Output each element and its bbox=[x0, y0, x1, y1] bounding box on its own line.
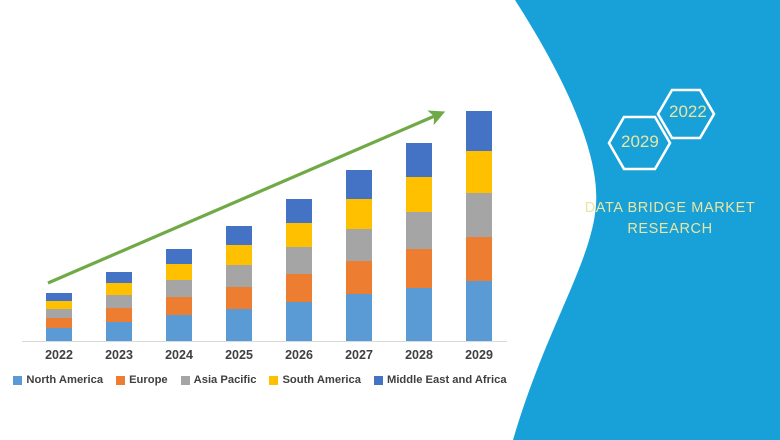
legend-label: Europe bbox=[129, 374, 168, 386]
hexagon-2022-label: 2022 bbox=[669, 102, 707, 122]
legend-swatch-icon bbox=[116, 376, 125, 385]
legend-label: Middle East and Africa bbox=[387, 374, 507, 386]
legend-item-middle-east-and-africa[interactable]: Middle East and Africa bbox=[374, 374, 507, 386]
segment-north-america bbox=[466, 281, 492, 341]
segment-europe bbox=[406, 249, 432, 287]
segment-south-america bbox=[226, 245, 252, 265]
segment-europe bbox=[286, 274, 312, 302]
x-axis-label-2029: 2029 bbox=[449, 348, 509, 362]
segment-north-america bbox=[46, 328, 72, 341]
legend-label: South America bbox=[282, 374, 361, 386]
segment-south-america bbox=[286, 223, 312, 247]
segment-asia-pacific bbox=[346, 229, 372, 261]
segment-europe bbox=[226, 287, 252, 309]
legend-item-asia-pacific[interactable]: Asia Pacific bbox=[181, 374, 257, 386]
segment-south-america bbox=[406, 177, 432, 212]
segment-middle-east-and-africa bbox=[286, 199, 312, 223]
segment-asia-pacific bbox=[286, 247, 312, 274]
legend-label: North America bbox=[26, 374, 103, 386]
stacked-bar-chart: 20222023202420252026202720282029 North A… bbox=[0, 0, 520, 440]
x-axis-label-2023: 2023 bbox=[89, 348, 149, 362]
segment-south-america bbox=[46, 301, 72, 309]
segment-south-america bbox=[166, 264, 192, 280]
legend-swatch-icon bbox=[269, 376, 278, 385]
brand-name-line-2: RESEARCH bbox=[560, 219, 780, 240]
segment-middle-east-and-africa bbox=[166, 249, 192, 265]
legend-swatch-icon bbox=[181, 376, 190, 385]
x-axis-label-2024: 2024 bbox=[149, 348, 209, 362]
x-axis-labels: 20222023202420252026202720282029 bbox=[0, 348, 520, 368]
bar-2025 bbox=[226, 226, 252, 341]
segment-south-america bbox=[346, 199, 372, 229]
chart-legend: North AmericaEuropeAsia PacificSouth Ame… bbox=[0, 374, 520, 386]
segment-middle-east-and-africa bbox=[46, 293, 72, 301]
segment-north-america bbox=[406, 288, 432, 341]
brand-name: DATA BRIDGE MARKET RESEARCH bbox=[560, 198, 780, 240]
bar-2024 bbox=[166, 249, 192, 341]
segment-middle-east-and-africa bbox=[466, 111, 492, 151]
segment-asia-pacific bbox=[106, 295, 132, 308]
legend-item-south-america[interactable]: South America bbox=[269, 374, 361, 386]
legend-swatch-icon bbox=[13, 376, 22, 385]
segment-south-america bbox=[106, 283, 132, 295]
segment-north-america bbox=[166, 315, 192, 341]
segment-north-america bbox=[286, 302, 312, 341]
bar-2022 bbox=[46, 293, 72, 341]
brand-name-line-1: DATA BRIDGE MARKET bbox=[560, 198, 780, 219]
chart-image-root: 2029 2022 DATA BRIDGE MARKET RESEARCH 20… bbox=[0, 0, 780, 440]
hexagon-2029-label: 2029 bbox=[621, 132, 659, 152]
segment-north-america bbox=[226, 309, 252, 341]
segment-south-america bbox=[466, 151, 492, 193]
x-axis-label-2026: 2026 bbox=[269, 348, 329, 362]
x-axis-label-2025: 2025 bbox=[209, 348, 269, 362]
segment-europe bbox=[46, 318, 72, 328]
segment-middle-east-and-africa bbox=[346, 170, 372, 199]
segment-middle-east-and-africa bbox=[226, 226, 252, 246]
segment-north-america bbox=[106, 322, 132, 341]
segment-europe bbox=[106, 308, 132, 322]
segment-asia-pacific bbox=[226, 265, 252, 286]
segment-asia-pacific bbox=[466, 193, 492, 237]
bar-2029 bbox=[466, 111, 492, 341]
legend-swatch-icon bbox=[374, 376, 383, 385]
segment-asia-pacific bbox=[46, 309, 72, 318]
segment-europe bbox=[166, 297, 192, 315]
segment-middle-east-and-africa bbox=[106, 272, 132, 284]
bar-2027 bbox=[346, 170, 372, 341]
segment-asia-pacific bbox=[406, 212, 432, 249]
segment-europe bbox=[466, 237, 492, 282]
segment-europe bbox=[346, 261, 372, 294]
bar-2023 bbox=[106, 272, 132, 341]
segment-asia-pacific bbox=[166, 280, 192, 297]
legend-item-europe[interactable]: Europe bbox=[116, 374, 168, 386]
x-axis-baseline bbox=[22, 341, 507, 342]
bar-2028 bbox=[406, 143, 432, 341]
x-axis-label-2022: 2022 bbox=[29, 348, 89, 362]
x-axis-label-2027: 2027 bbox=[329, 348, 389, 362]
segment-middle-east-and-africa bbox=[406, 143, 432, 177]
legend-label: Asia Pacific bbox=[194, 374, 257, 386]
segment-north-america bbox=[346, 294, 372, 341]
legend-item-north-america[interactable]: North America bbox=[13, 374, 103, 386]
x-axis-label-2028: 2028 bbox=[389, 348, 449, 362]
bar-2026 bbox=[286, 199, 312, 341]
